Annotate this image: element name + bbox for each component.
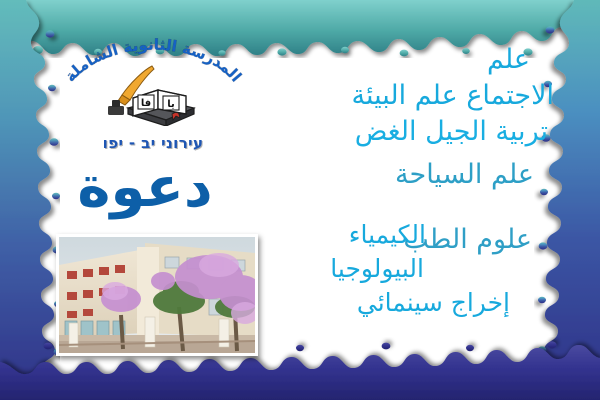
subject-list: علم الاجتماع علم البيئة تربية الجيل الغض…	[264, 46, 554, 346]
logo-hebrew-text: עירוני יב - יפו	[58, 134, 248, 152]
poster-canvas: المدرسة الثانوية الشاملة	[0, 0, 600, 400]
subject-item: علم السياحة	[395, 161, 534, 188]
logo-book-illustration: فا يا	[100, 64, 206, 126]
book-right-page-text: يا	[167, 99, 175, 110]
subject-item: البيولوجيا	[330, 256, 424, 281]
subject-item: الاجتماع علم البيئة	[351, 82, 554, 109]
subject-item: تربية الجيل الغض	[355, 118, 548, 145]
subject-item: الكيمياء	[349, 222, 426, 247]
subject-item: إخراج سينمائي	[357, 290, 510, 315]
school-building-photo	[56, 234, 258, 356]
book-left-page-text: فا	[141, 98, 151, 109]
subject-item: علم	[487, 46, 530, 73]
page-title: دعوة	[40, 160, 250, 216]
school-logo: المدرسة الثانوية الشاملة	[58, 34, 248, 149]
photo-artwork	[59, 237, 255, 353]
